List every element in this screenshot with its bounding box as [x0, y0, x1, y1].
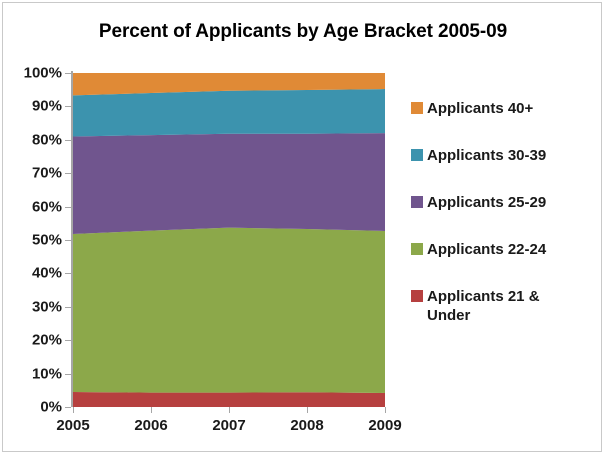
legend-swatch-icon — [411, 102, 423, 114]
x-tick-label: 2006 — [134, 417, 167, 434]
y-tick-label: 70% — [32, 165, 62, 182]
legend-label: Applicants 22-24 — [427, 240, 546, 259]
chart-legend: Applicants 40+Applicants 30-39Applicants… — [411, 99, 591, 353]
legend-label: Applicants 40+ — [427, 99, 533, 118]
legend-item[interactable]: Applicants 25-29 — [411, 193, 591, 212]
legend-item[interactable]: Applicants 40+ — [411, 99, 591, 118]
chart-container: Percent of Applicants by Age Bracket 200… — [2, 2, 602, 452]
x-tick-mark — [151, 407, 152, 413]
x-tick-label: 2007 — [212, 417, 245, 434]
y-tick-label: 10% — [32, 365, 62, 382]
y-tick-mark — [65, 273, 71, 274]
legend-label: Applicants 30-39 — [427, 146, 546, 165]
y-tick-mark — [65, 340, 71, 341]
y-tick-label: 50% — [32, 232, 62, 249]
stacked-area-plot — [73, 73, 385, 407]
legend-item[interactable]: Applicants 22-24 — [411, 240, 591, 259]
x-tick-label: 2009 — [368, 417, 401, 434]
legend-label: Applicants 21 & Under — [427, 287, 540, 325]
y-tick-mark — [65, 73, 71, 74]
y-tick-mark — [65, 240, 71, 241]
legend-swatch-icon — [411, 243, 423, 255]
area-series-2 — [73, 133, 385, 234]
area-series-0 — [73, 392, 385, 407]
y-tick-label: 30% — [32, 298, 62, 315]
y-tick-label: 20% — [32, 332, 62, 349]
area-series-3 — [73, 89, 385, 136]
y-tick-label: 90% — [32, 98, 62, 115]
area-series-svg — [73, 73, 385, 407]
y-tick-label: 100% — [24, 65, 62, 82]
legend-item[interactable]: Applicants 21 & Under — [411, 287, 591, 325]
legend-swatch-icon — [411, 196, 423, 208]
y-tick-mark — [65, 207, 71, 208]
x-tick-label: 2005 — [56, 417, 89, 434]
plot-area: 0%10%20%30%40%50%60%70%80%90%100% 200520… — [71, 71, 385, 407]
y-tick-mark — [65, 307, 71, 308]
y-tick-label: 80% — [32, 131, 62, 148]
y-tick-mark — [65, 374, 71, 375]
y-tick-label: 60% — [32, 198, 62, 215]
legend-item[interactable]: Applicants 30-39 — [411, 146, 591, 165]
y-tick-mark — [65, 407, 71, 408]
y-tick-mark — [65, 106, 71, 107]
y-tick-label: 40% — [32, 265, 62, 282]
y-tick-label: 0% — [40, 399, 62, 416]
legend-swatch-icon — [411, 149, 423, 161]
y-tick-mark — [65, 173, 71, 174]
x-tick-mark — [73, 407, 74, 413]
legend-label: Applicants 25-29 — [427, 193, 546, 212]
y-tick-mark — [65, 140, 71, 141]
x-tick-mark — [385, 407, 386, 413]
legend-swatch-icon — [411, 290, 423, 302]
chart-title: Percent of Applicants by Age Bracket 200… — [3, 21, 603, 43]
area-series-1 — [73, 228, 385, 393]
x-tick-mark — [229, 407, 230, 413]
x-tick-mark — [307, 407, 308, 413]
x-tick-label: 2008 — [290, 417, 323, 434]
